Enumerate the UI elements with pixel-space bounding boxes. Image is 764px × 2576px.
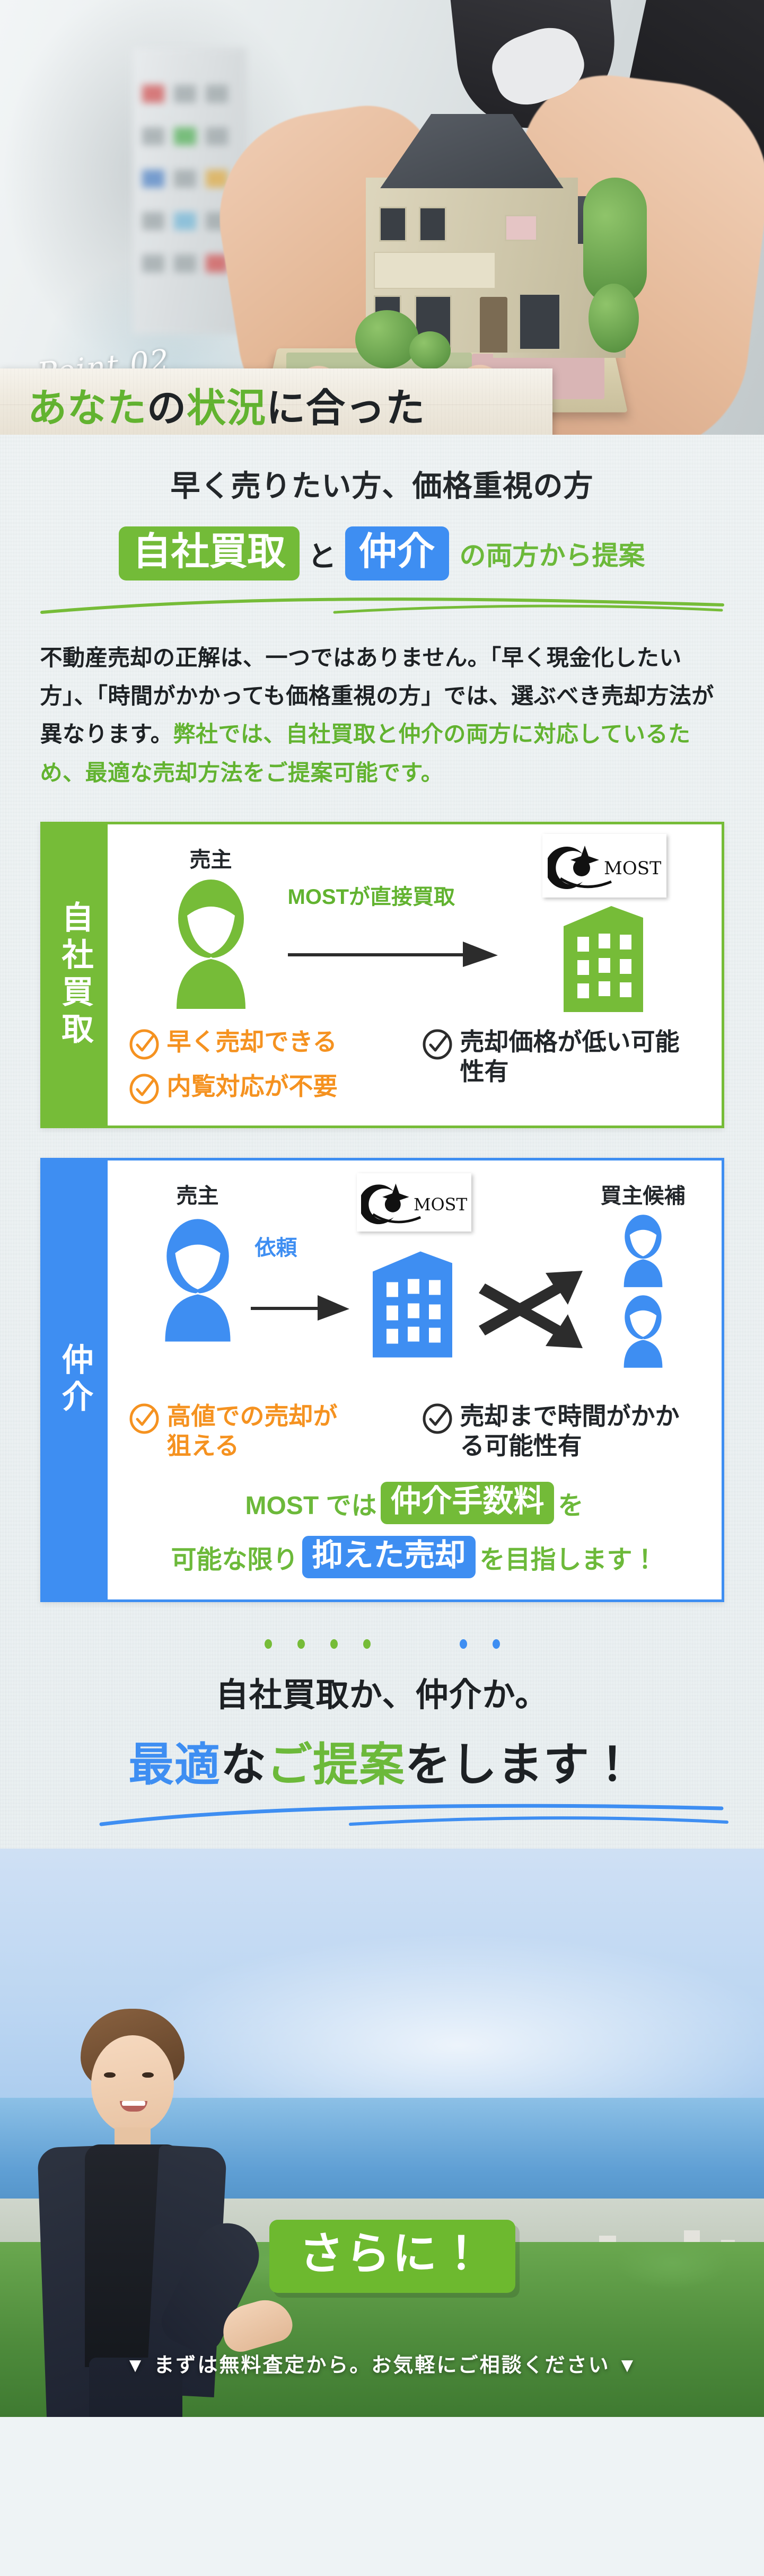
fee-prefix: MOST では: [245, 1492, 376, 1520]
flow-arrow-right-icon: [288, 935, 500, 967]
most-logo-icon: MOST: [361, 1179, 467, 1226]
fee-statement-line-1: MOST では仲介手数料を: [129, 1482, 700, 1524]
landing-page: Point 02 あなたの状況に合った 売却方法をご提案 早く売りたい方、価格重…: [0, 0, 764, 2576]
decorative-dots: [0, 1639, 764, 1649]
badge-chukai: 仲介: [345, 526, 449, 581]
pros-cons-chukai: 高値での売却が狙える 売却まで時間がかかる可能性有: [129, 1401, 700, 1461]
card-rail-chukai: 仲介: [43, 1160, 108, 1599]
badge-jisha-kaitori: 自社買取: [119, 526, 299, 581]
con-label: 売却価格が低い可能性有: [460, 1027, 683, 1086]
buyer-label: 買主候補: [601, 1179, 686, 1209]
seller-person-icon: [150, 1214, 245, 1346]
badge-tail-text: の両方から提案: [460, 534, 645, 573]
closing-part-shimasu: をします！: [405, 1739, 636, 1790]
buyer-candidate-icon: [609, 1294, 678, 1368]
method-badge-row: 自社買取 と 仲介 の両方から提案: [0, 526, 764, 581]
closing-part-saiteki: 最適: [128, 1739, 221, 1790]
blue-swoosh-underline: [32, 1803, 732, 1827]
hero-banner-line-1: あなたの状況に合った: [0, 368, 552, 435]
main-content: 早く売りたい方、価格重視の方 自社買取 と 仲介 の両方から提案 不動産売却の正…: [0, 435, 764, 1849]
check-circle-icon: [422, 1403, 453, 1434]
fee-box-commission: 仲介手数料: [381, 1482, 554, 1524]
seller-label: 売主: [161, 842, 261, 873]
hero-line1-part-d: に合った: [266, 386, 425, 430]
seller-person-icon: [161, 877, 261, 1010]
hero-section: Point 02 あなたの状況に合った 売却方法をご提案: [0, 0, 764, 435]
check-circle-icon: [129, 1403, 160, 1434]
flow-label-request: 依頼: [255, 1230, 297, 1261]
fee-suffix: を目指します！: [480, 1546, 658, 1574]
check-circle-icon: [129, 1074, 160, 1104]
closing-section: 自社買取か、仲介か。 最適なご提案をします！: [0, 1602, 764, 1849]
pro-item: 内覧対応が不要: [129, 1071, 407, 1104]
company-building-icon: [553, 902, 654, 1013]
flow-arrow-split-icon: [473, 1263, 585, 1369]
fee-box-reduced-sale: 抑えた売却: [302, 1536, 475, 1578]
intro-body-copy: 不動産売却の正解は、一つではありません。「早く現金化したい方」、「時間がかかって…: [40, 639, 724, 792]
closing-line-2: 最適なご提案をします！: [0, 1727, 764, 1793]
hero-line1-part-a: あなた: [28, 386, 147, 430]
most-logo-icon: MOST: [548, 840, 661, 891]
seller-label: 売主: [150, 1179, 245, 1209]
pro-label: 高値での売却が狙える: [167, 1401, 342, 1461]
badge-conjunction: と: [308, 533, 337, 575]
hero-line1-part-b: の: [147, 386, 187, 430]
pro-label: 早く売却できる: [167, 1027, 337, 1057]
card-rail-label: 仲介: [52, 1343, 98, 1417]
company-building-icon: [362, 1238, 463, 1368]
most-logo-box: MOST: [357, 1173, 471, 1232]
card-rail-label: 自社買取: [52, 901, 98, 1049]
pro-label: 内覧対応が不要: [167, 1071, 338, 1101]
intro-lead: 早く売りたい方、価格重視の方: [0, 462, 764, 505]
flow-arrow-right-icon: [251, 1291, 352, 1321]
cta-footer-text: ▼ まずは無料査定から。お気軽にご相談ください ▼: [0, 2349, 764, 2378]
fee-line2-prefix: 可能な限り: [171, 1546, 298, 1574]
pros-cons-jisha-kaitori: 早く売却できる 内覧対応が不要: [129, 1027, 700, 1104]
buyer-candidate-icon: [609, 1214, 678, 1288]
pro-item: 高値での売却が狙える: [129, 1401, 407, 1461]
con-label: 売却まで時間がかかる可能性有: [460, 1401, 688, 1461]
closing-part-teian: ご提案: [267, 1739, 405, 1790]
most-logo-text: MOST: [414, 1195, 467, 1215]
sarani-label: さらに！: [299, 2229, 486, 2279]
card-jisha-kaitori: 自社買取 売主: [40, 822, 724, 1128]
pro-item: 早く売却できる: [129, 1027, 407, 1060]
most-logo-text: MOST: [604, 858, 661, 879]
con-item: 売却まで時間がかかる可能性有: [422, 1401, 700, 1461]
green-swoosh-underline: [38, 594, 727, 616]
card-rail-jisha-kaitori: 自社買取: [43, 824, 108, 1126]
hero-line1-part-c: 状況: [187, 386, 266, 430]
flow-label-direct-purchase: MOSTが直接買取: [288, 880, 455, 910]
closing-line-1: 自社買取か、仲介か。: [0, 1668, 764, 1716]
card-body-jisha-kaitori: 売主: [108, 824, 722, 1126]
most-logo-box: MOST: [542, 834, 666, 898]
sarani-badge: さらに！: [269, 2220, 515, 2293]
fee-statement-line-2: 可能な限り抑えた売却を目指します！: [129, 1536, 700, 1578]
cta-section: さらに！ MOST は 査定 無料! ▼ まずは無料査定から。お気軽にご相談くだ…: [0, 1849, 764, 2417]
card-chukai: 仲介 売主: [40, 1158, 724, 1602]
fee-mid: を: [558, 1492, 584, 1520]
check-circle-icon: [422, 1029, 453, 1060]
con-item: 売却価格が低い可能性有: [422, 1027, 700, 1086]
card-body-chukai: 売主: [108, 1160, 722, 1599]
flow-diagram-direct-purchase: 売主: [129, 842, 700, 1017]
check-circle-icon: [129, 1029, 160, 1060]
flow-diagram-brokerage: 売主: [129, 1179, 700, 1380]
closing-part-na: な: [221, 1739, 267, 1790]
